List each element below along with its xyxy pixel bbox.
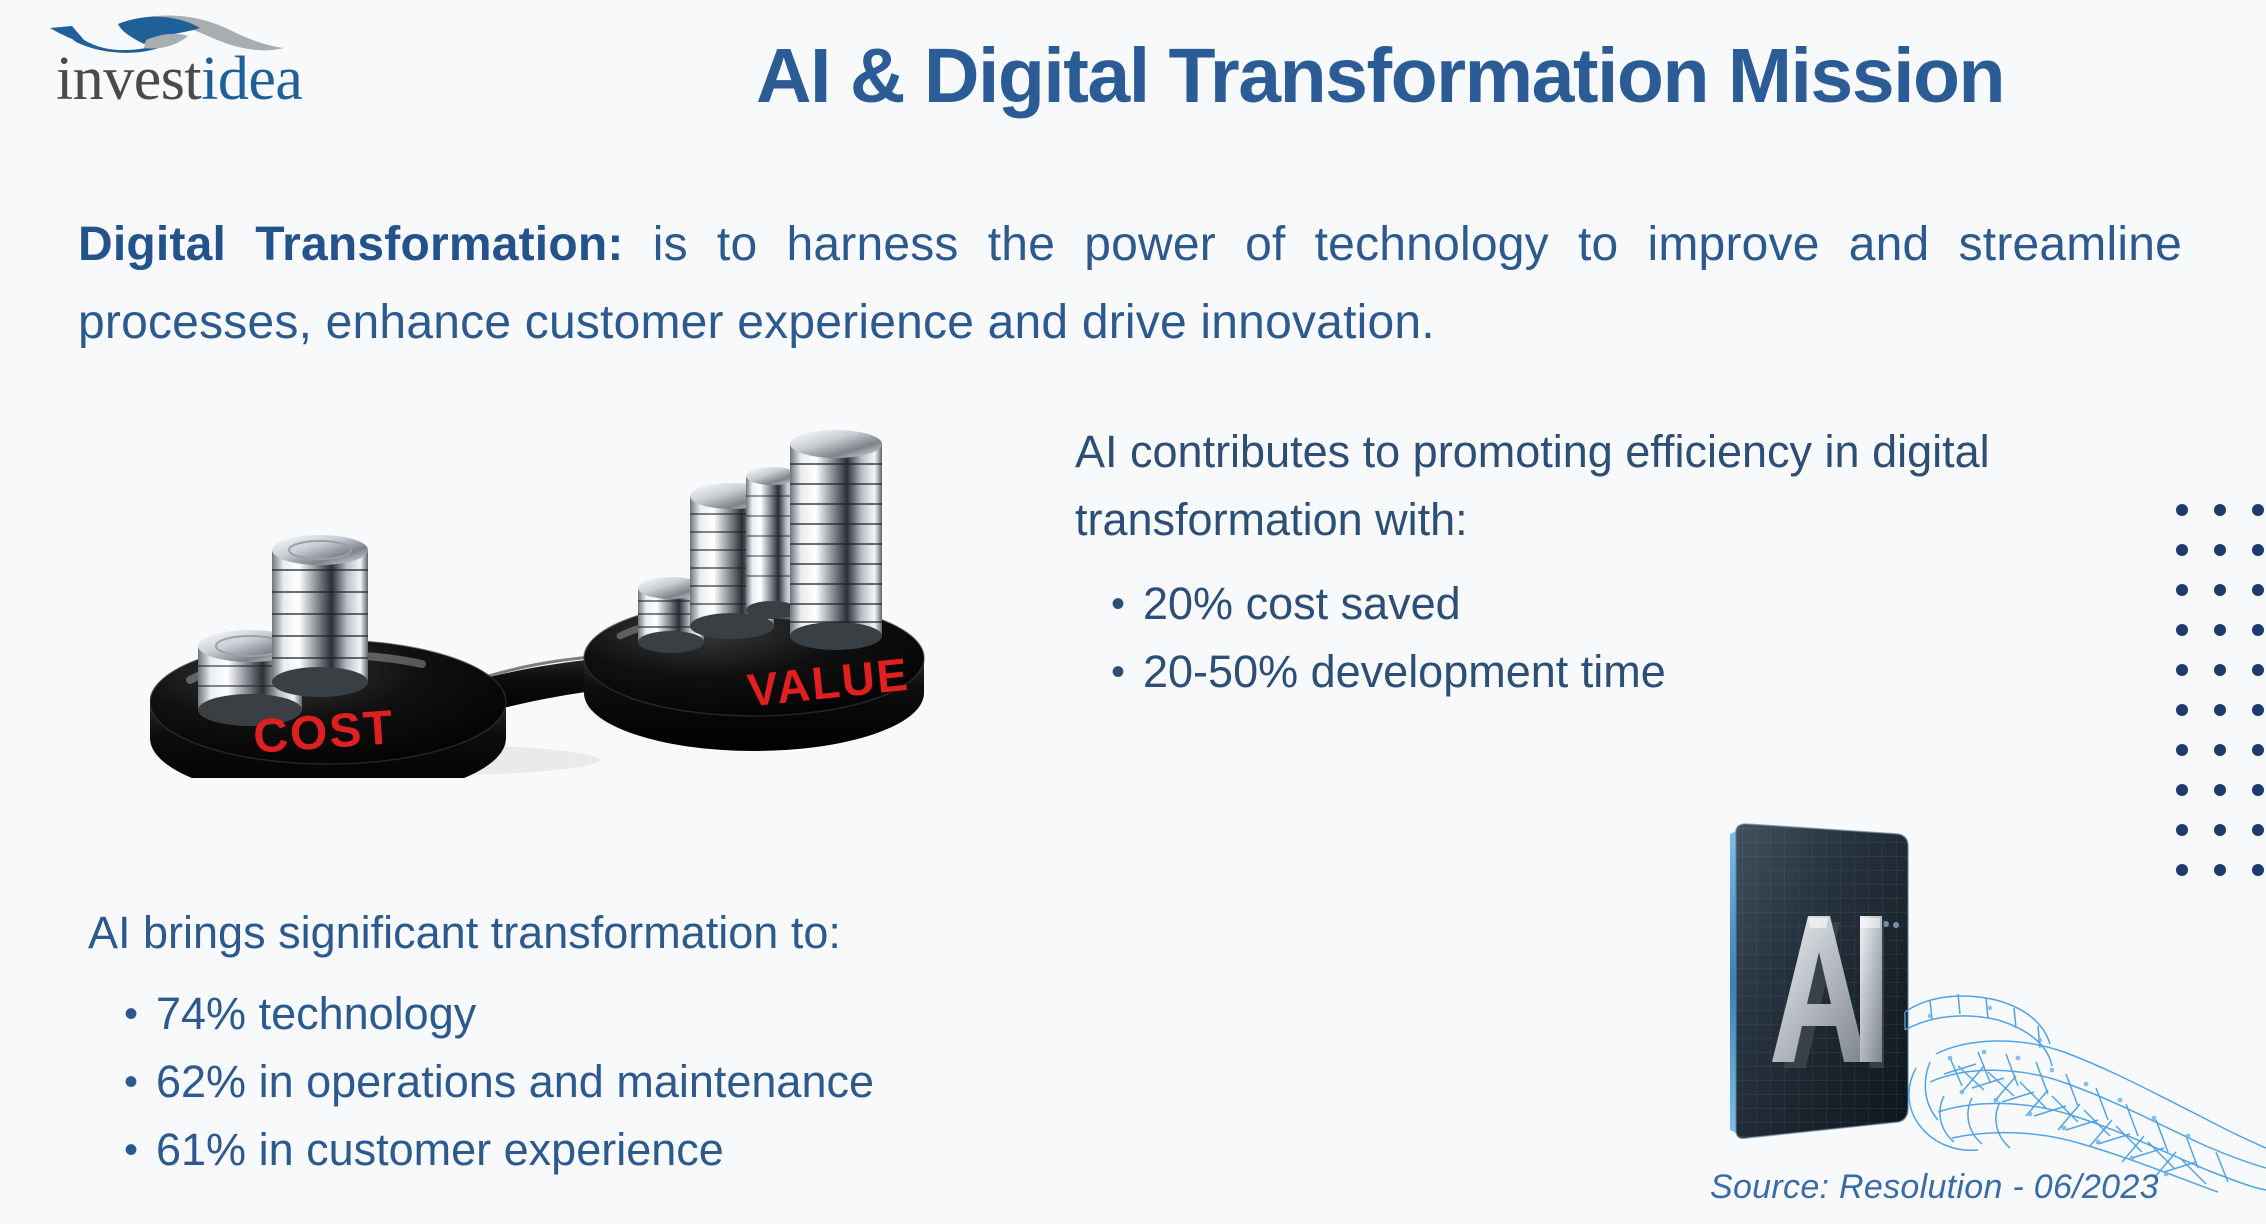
logo-word-invest: invest — [56, 45, 201, 113]
slide-canvas: investidea AI & Digital Transformation M… — [0, 0, 2266, 1224]
logo-wordmark: investidea — [56, 48, 302, 110]
ai-transformation-lead: AI brings significant transformation to: — [88, 898, 1098, 968]
ai-efficiency-list: 20% cost saved 20-50% development time — [1075, 570, 2075, 706]
dot-grid-icon — [2176, 498, 2266, 878]
list-item: 20-50% development time — [1075, 638, 2075, 706]
ai-transformation-list: 74% technology 62% in operations and mai… — [88, 980, 1098, 1184]
ai-efficiency-lead: AI contributes to promoting efficiency i… — [1075, 418, 2075, 554]
list-item: 20% cost saved — [1075, 570, 2075, 638]
ai-transformation-block: AI brings significant transformation to:… — [88, 898, 1098, 1184]
scale-label-cost: COST — [252, 701, 397, 764]
page-title: AI & Digital Transformation Mission — [560, 30, 2200, 122]
intro-paragraph: Digital Transformation: is to harness th… — [78, 206, 2182, 362]
source-citation: Source: Resolution - 06/2023 — [1710, 1168, 2159, 1207]
ai-efficiency-block: AI contributes to promoting efficiency i… — [1075, 418, 2075, 706]
decorative-dot-grid — [2176, 498, 2266, 878]
list-item: 74% technology — [88, 980, 1098, 1048]
list-item: 61% in customer experience — [88, 1116, 1098, 1184]
intro-label: Digital Transformation: — [78, 218, 624, 271]
cost-value-scale-image: VALUE — [150, 408, 930, 778]
brand-logo: investidea — [30, 12, 330, 122]
logo-word-idea: idea — [201, 45, 302, 113]
list-item: 62% in operations and maintenance — [88, 1048, 1098, 1116]
scale-illustration-icon: VALUE — [150, 408, 930, 778]
